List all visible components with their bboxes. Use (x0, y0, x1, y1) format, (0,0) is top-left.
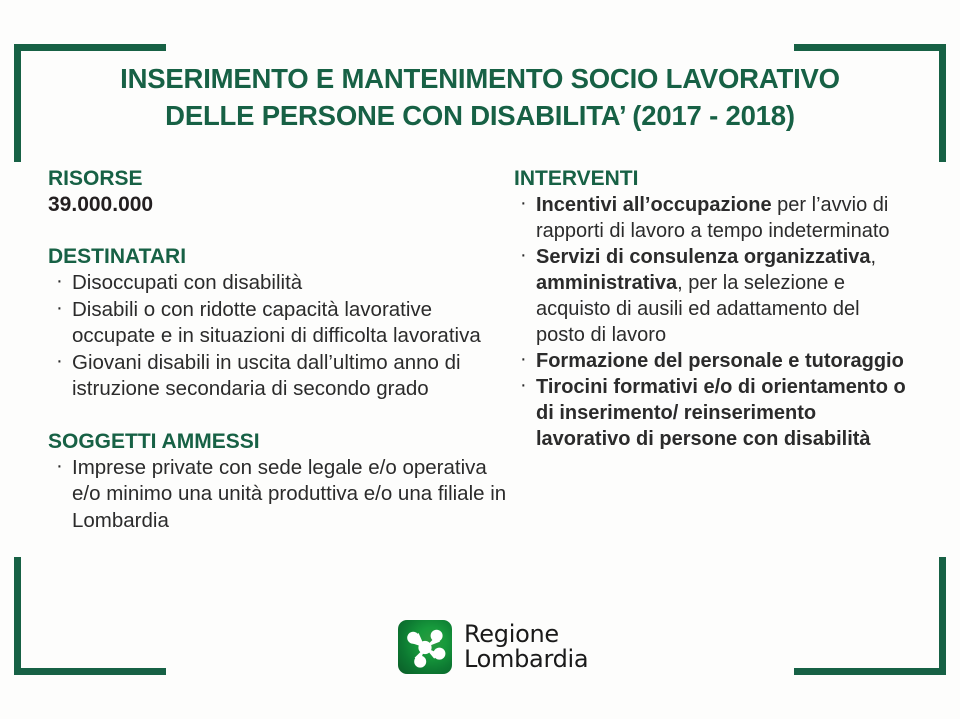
slide-title: INSERIMENTO E MANTENIMENTO SOCIO LAVORAT… (60, 60, 900, 134)
section-risorse: RISORSE 39.000.000 (48, 166, 510, 218)
list-item: Tirocini formativi e/o di orientamento o… (514, 374, 914, 452)
destinatari-list: Disoccupati con disabilità Disabili o co… (48, 270, 510, 403)
list-item-emphasis: Tirocini formativi e/o di orientamento o… (536, 376, 906, 450)
title-line-1: INSERIMENTO E MANTENIMENTO SOCIO LAVORAT… (60, 60, 900, 97)
list-item: Formazione del personale e tutoraggio (514, 348, 914, 374)
interventi-list: Incentivi all’occupazione per l’avvio di… (514, 192, 914, 452)
section-destinatari: DESTINATARI Disoccupati con disabilità D… (48, 244, 510, 403)
regione-lombardia-logo: Regione Lombardia (398, 620, 588, 674)
section-interventi: INTERVENTI Incentivi all’occupazione per… (514, 166, 914, 452)
list-item: Imprese private con sede legale e/o oper… (48, 455, 510, 535)
logo-wordmark: Regione Lombardia (464, 622, 588, 672)
section-heading-destinatari: DESTINATARI (48, 244, 510, 269)
list-item-emphasis: Servizi di consulenza organizzativa (536, 246, 871, 268)
list-item: Giovani disabili in uscita dall’ultimo a… (48, 350, 510, 403)
list-item: Incentivi all’occupazione per l’avvio di… (514, 192, 914, 244)
logo-wordmark-line-1: Regione (464, 622, 588, 647)
section-heading-soggetti-ammessi: SOGGETTI AMMESSI (48, 429, 510, 454)
rosa-camuna-icon (398, 620, 452, 674)
section-heading-interventi: INTERVENTI (514, 166, 914, 191)
list-item: Disoccupati con disabilità (48, 270, 510, 297)
section-heading-risorse: RISORSE (48, 166, 510, 191)
column-left: RISORSE 39.000.000 DESTINATARI Disoccupa… (48, 166, 510, 534)
risorse-amount: 39.000.000 (48, 192, 510, 218)
content-columns: RISORSE 39.000.000 DESTINATARI Disoccupa… (48, 166, 932, 534)
corner-bracket-bottom-right (794, 557, 946, 675)
list-item: Servizi di consulenza organizzativa, amm… (514, 244, 914, 348)
column-right: INTERVENTI Incentivi all’occupazione per… (514, 166, 914, 452)
soggetti-list: Imprese private con sede legale e/o oper… (48, 455, 510, 535)
corner-bracket-bottom-left (14, 557, 166, 675)
section-soggetti-ammessi: SOGGETTI AMMESSI Imprese private con sed… (48, 429, 510, 535)
list-item-emphasis-2: amministrativa (536, 272, 677, 294)
slide: INSERIMENTO E MANTENIMENTO SOCIO LAVORAT… (0, 0, 960, 719)
list-item-emphasis: Incentivi all’occupazione (536, 194, 772, 216)
list-item: Disabili o con ridotte capacità lavorati… (48, 297, 510, 350)
logo-wordmark-line-2: Lombardia (464, 647, 588, 672)
title-line-2: DELLE PERSONE CON DISABILITA’ (2017 - 20… (60, 97, 900, 134)
list-item-separator: , (871, 246, 877, 268)
list-item-emphasis: Formazione del personale e tutoraggio (536, 350, 904, 372)
